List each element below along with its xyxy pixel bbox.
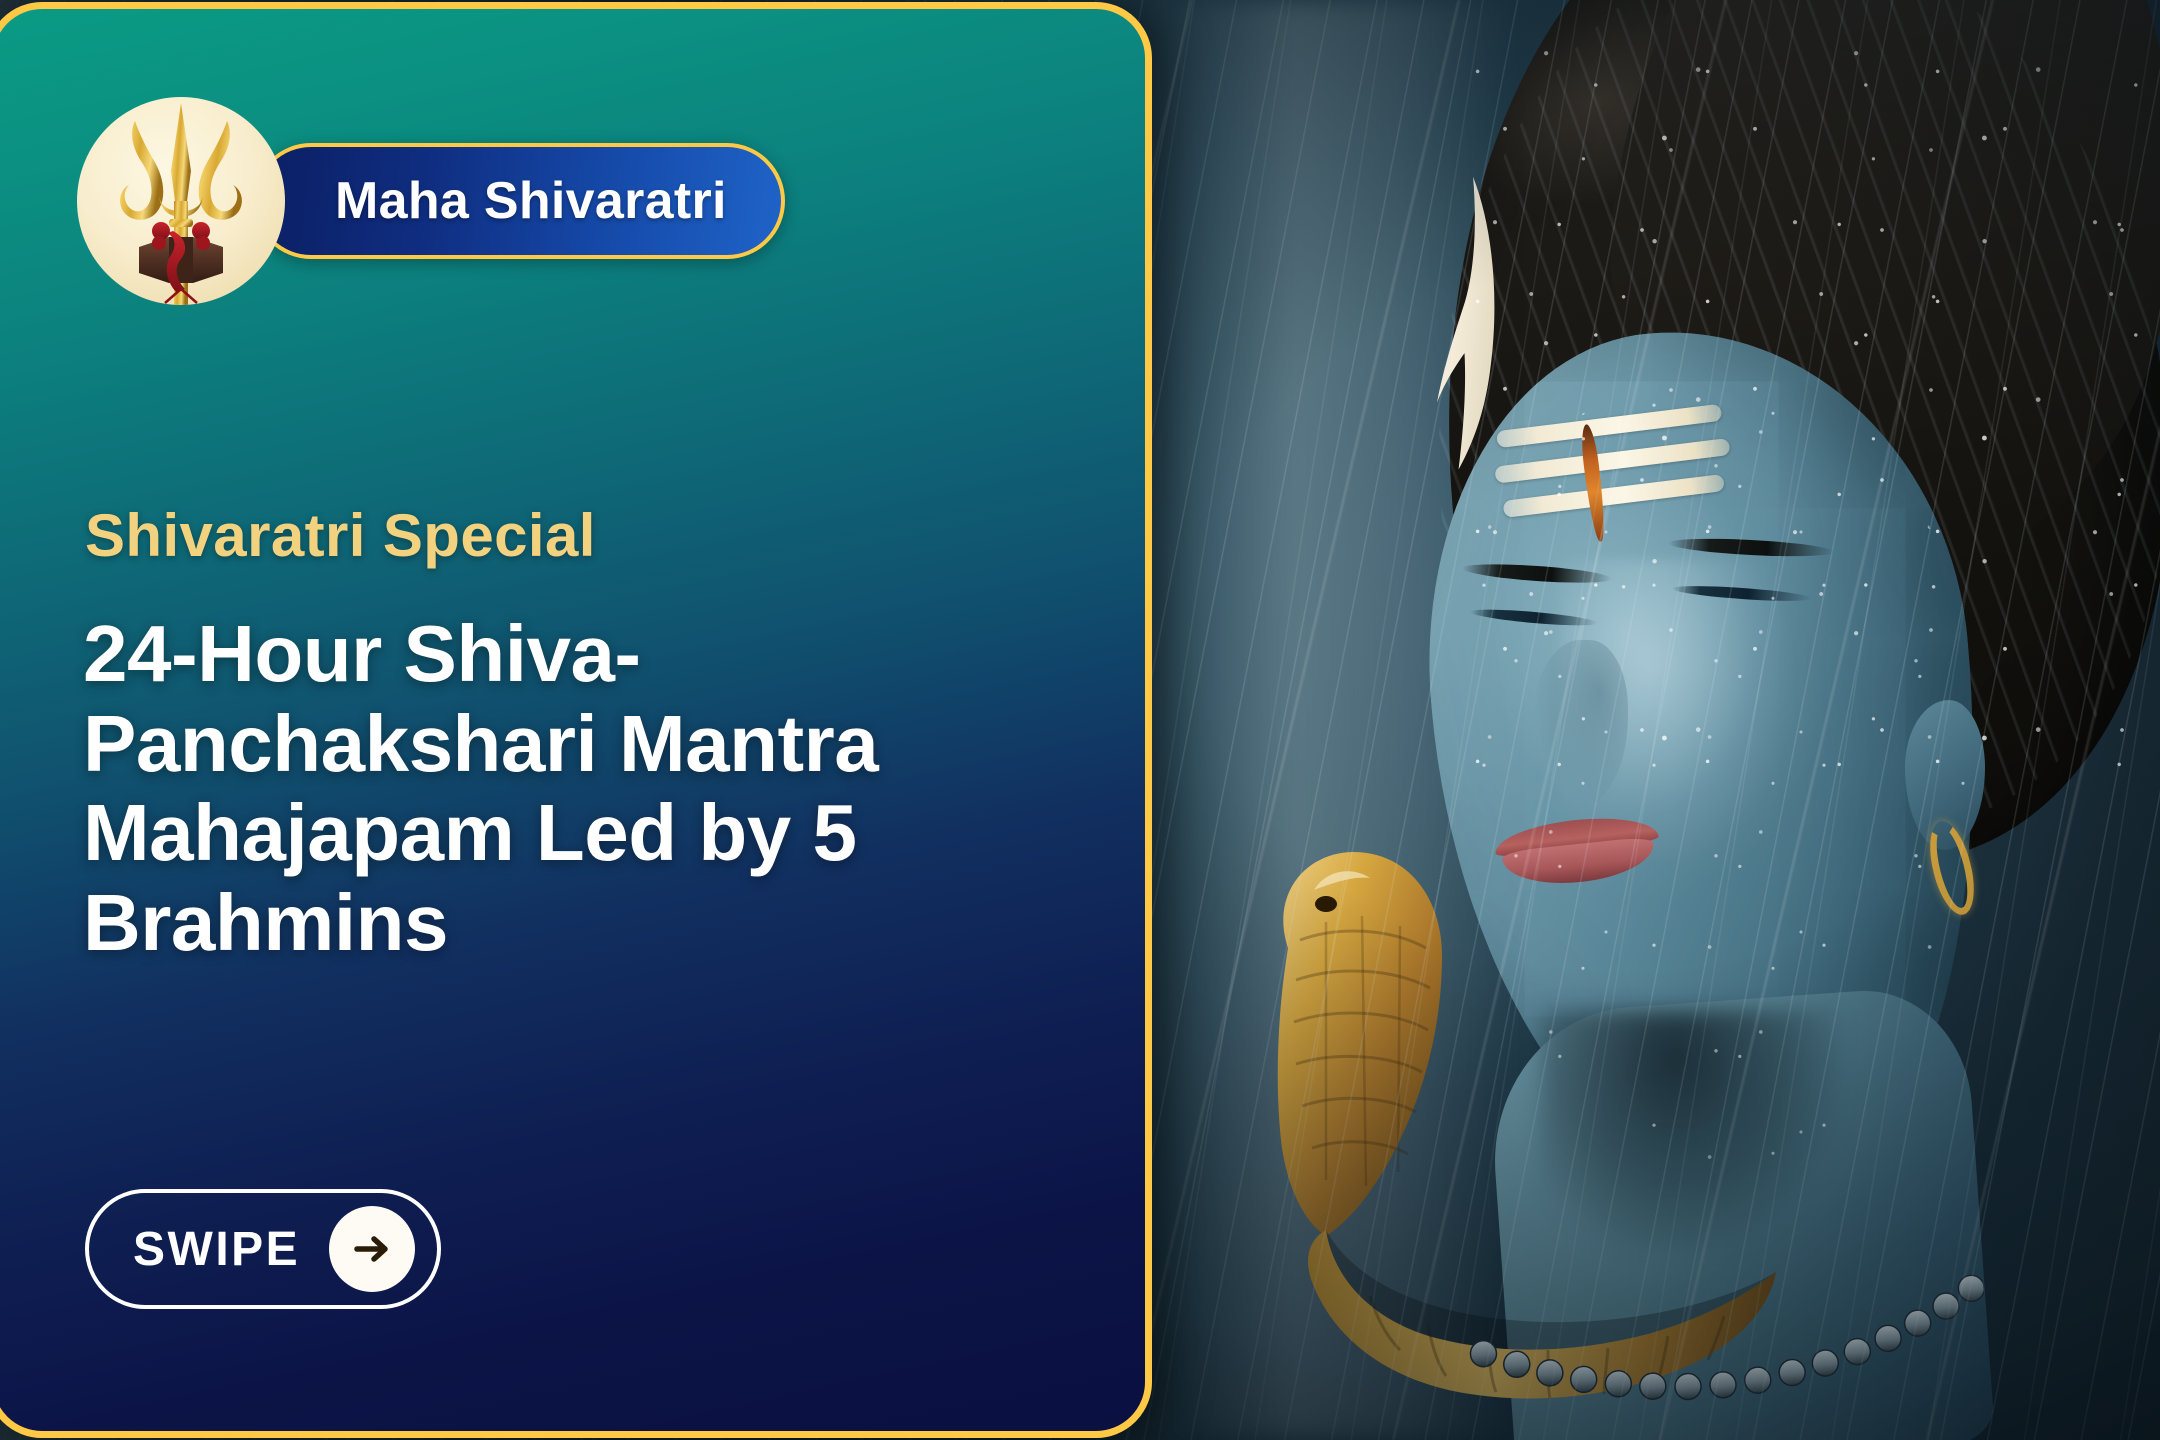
swipe-button[interactable]: SWIPE: [85, 1189, 441, 1309]
banner-stage: Maha Shivaratri Shivaratri Special 24-Ho…: [0, 0, 2160, 1440]
trishul-damaru-icon[interactable]: [77, 97, 285, 305]
brand-row: Maha Shivaratri: [77, 97, 785, 305]
swipe-label: SWIPE: [133, 1222, 300, 1277]
content-card: Maha Shivaratri Shivaratri Special 24-Ho…: [0, 2, 1152, 1438]
maha-shivaratri-badge[interactable]: Maha Shivaratri: [253, 143, 785, 259]
arrow-right-icon[interactable]: [329, 1206, 415, 1292]
badge-label: Maha Shivaratri: [335, 171, 727, 231]
eyebrow-text: Shivaratri Special: [85, 501, 596, 570]
page-title: 24-Hour Shiva-Panchakshari Mantra Mahaja…: [83, 609, 963, 967]
